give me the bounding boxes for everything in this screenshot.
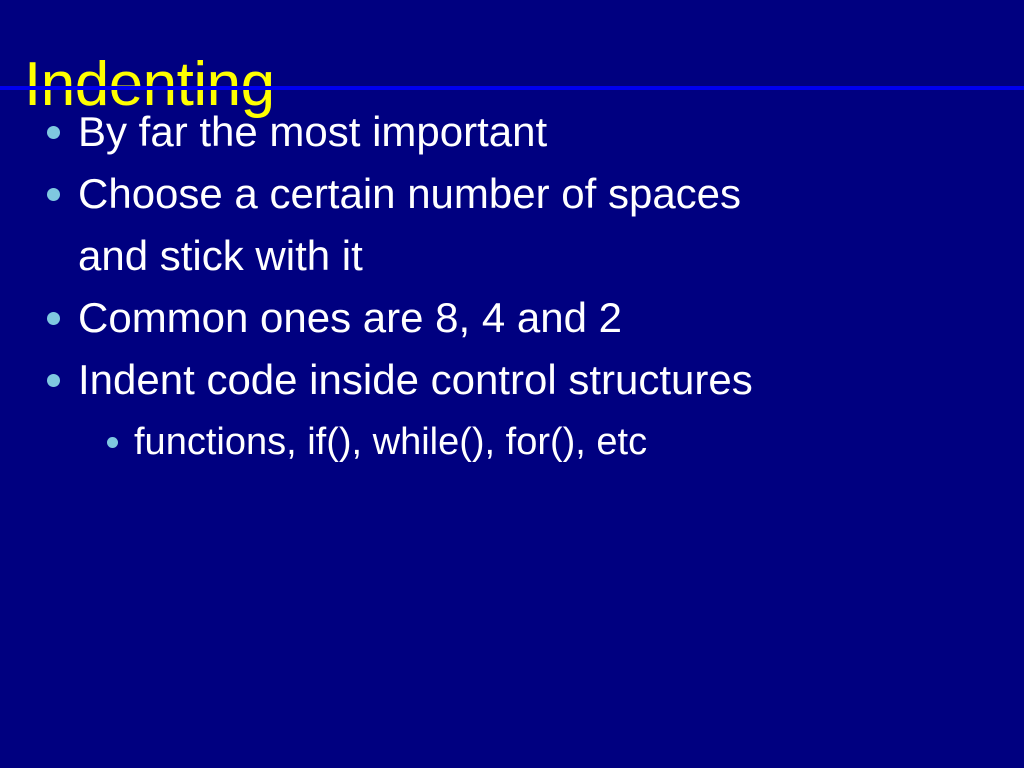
sub-list-item-label: functions, if(), while(), for(), etc	[134, 421, 647, 463]
list-item-label: Indent code inside control structures	[78, 349, 1024, 411]
bullet-list: By far the most important Choose a certa…	[0, 101, 1024, 473]
slide-canvas: Indenting By far the most important Choo…	[0, 0, 1024, 768]
list-item: Common ones are 8, 4 and 2	[0, 287, 1024, 349]
title-divider-rule	[0, 86, 1024, 90]
list-item-label: Common ones are 8, 4 and 2	[78, 287, 1024, 349]
bullet-dot-icon	[47, 126, 60, 139]
bullet-dot-icon	[47, 374, 60, 387]
bullet-dot-icon	[47, 188, 60, 201]
bullet-dot-icon	[47, 312, 60, 325]
list-item: Choose a certain number of spaces and st…	[0, 163, 1024, 287]
sub-bullet-dot-icon	[107, 437, 118, 448]
list-item: Indent code inside control structures	[0, 349, 1024, 411]
list-item-label: Choose a certain number of spaces	[78, 163, 1024, 225]
list-item: By far the most important	[0, 101, 1024, 163]
sub-list-item: functions, if(), while(), for(), etc	[0, 411, 1024, 473]
list-item-label: By far the most important	[78, 101, 1024, 163]
list-item-label-continued: and stick with it	[78, 225, 1024, 287]
